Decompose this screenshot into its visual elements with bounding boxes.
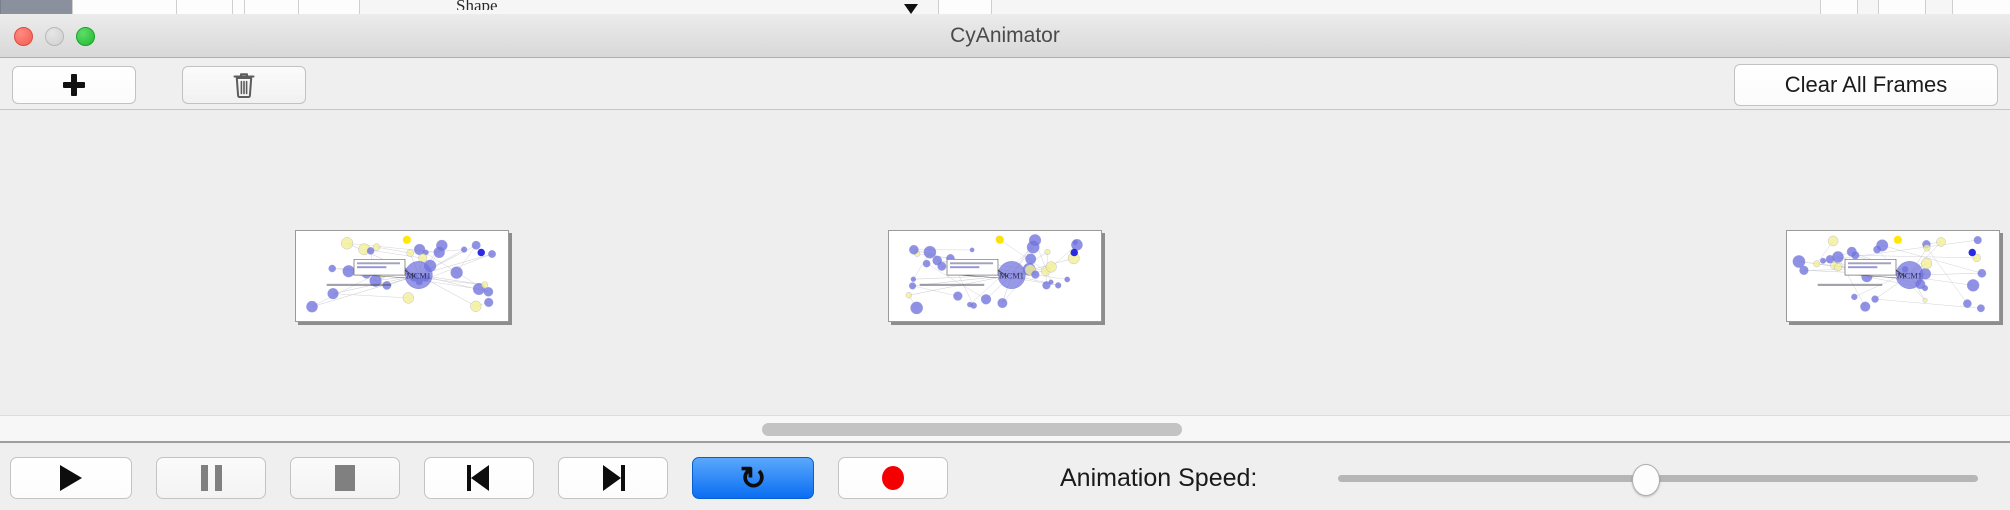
animation-speed-slider[interactable] (1338, 475, 1978, 482)
bg-tab (938, 0, 992, 14)
timeline-frame[interactable]: MCM1 (888, 230, 1102, 322)
timeline-panel[interactable]: MCM1MCM1MCM1 2131415161718 Seconds (0, 110, 2010, 415)
bg-tab (1952, 0, 2010, 14)
timeline-frame[interactable]: MCM1 (1786, 230, 2000, 322)
skip-to-end-icon (601, 465, 625, 491)
add-frame-button[interactable] (12, 66, 136, 104)
clear-all-frames-button[interactable]: Clear All Frames (1734, 64, 1998, 106)
bg-tab (298, 0, 360, 14)
title-bar: CyAnimator (0, 14, 2010, 58)
skip-to-end-button[interactable] (558, 457, 668, 499)
play-icon (60, 465, 82, 491)
timeline-scrollbar[interactable] (0, 415, 2010, 443)
svg-text:MCM1: MCM1 (406, 271, 430, 280)
record-icon (882, 466, 904, 490)
cyanimator-window: Shape CyAnimator Clear All Frames (0, 0, 2010, 510)
svg-text:MCM1: MCM1 (1897, 271, 1921, 280)
bg-tab (1878, 0, 1926, 14)
loop-button[interactable]: ↻ (692, 457, 814, 499)
bg-tab (176, 0, 234, 14)
timeline-scrollbar-thumb[interactable] (762, 423, 1182, 436)
stop-button[interactable] (290, 457, 400, 499)
transport-bar: ↻ Animation Speed: (0, 445, 2010, 510)
record-button[interactable] (838, 457, 948, 499)
network-thumbnail-graph: MCM1 (296, 231, 508, 321)
bg-tab (1820, 0, 1858, 14)
skip-to-start-icon (467, 465, 491, 491)
pause-button[interactable] (156, 457, 266, 499)
bg-tab (72, 0, 178, 14)
loop-icon: ↻ (740, 462, 767, 494)
skip-to-start-button[interactable] (424, 457, 534, 499)
bg-tab-active (0, 0, 74, 14)
delete-frame-button[interactable] (182, 66, 306, 104)
network-thumbnail-graph: MCM1 (889, 231, 1101, 321)
frame-toolbar: Clear All Frames (0, 58, 2010, 110)
trash-icon (232, 71, 256, 99)
animation-speed-knob[interactable] (1632, 464, 1660, 496)
bg-marker-icon (904, 4, 918, 14)
play-button[interactable] (10, 457, 132, 499)
background-window-strip: Shape (0, 0, 2010, 15)
frame-strip: MCM1MCM1MCM1 (0, 110, 2010, 405)
plus-icon (63, 74, 85, 96)
animation-speed-label: Animation Speed: (1060, 457, 1257, 499)
svg-text:MCM1: MCM1 (999, 271, 1023, 280)
timeline-frame[interactable]: MCM1 (295, 230, 509, 322)
window-title: CyAnimator (0, 14, 2010, 58)
bg-ghost-label: Shape (456, 0, 498, 10)
network-thumbnail-graph: MCM1 (1787, 231, 1999, 321)
pause-icon (201, 465, 222, 491)
stop-icon (335, 465, 355, 491)
bg-tab (244, 0, 300, 14)
